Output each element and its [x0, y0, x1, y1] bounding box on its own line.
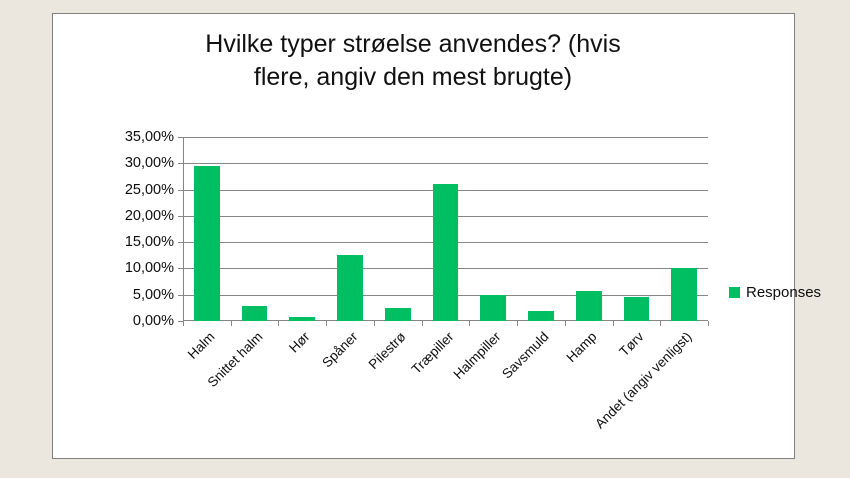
- bar-slot: [660, 137, 708, 321]
- bar-snittet-halm: [242, 306, 268, 321]
- bar-sp-ner: [337, 255, 363, 321]
- y-axis-tick-label: 20,00%: [125, 208, 174, 224]
- y-axis-tick-label: 30,00%: [125, 155, 174, 171]
- y-axis-tick-label: 0,00%: [133, 313, 174, 329]
- bar-pilestr: [385, 308, 411, 321]
- bar-savsmuld: [528, 311, 554, 321]
- legend-swatch-responses-icon: [729, 287, 740, 298]
- bar-halmpiller: [480, 295, 506, 321]
- y-axis-tick-label: 25,00%: [125, 182, 174, 198]
- x-axis-label-andet-angiv-venligst: Andet (angiv venligst): [592, 329, 694, 431]
- y-axis-tick-label: 10,00%: [125, 260, 174, 276]
- bar-slot: [374, 137, 422, 321]
- chart-title-line-2: flere, angiv den mest brugte): [113, 61, 713, 94]
- bar-series-responses: [183, 137, 708, 321]
- plot-area: 0,00%5,00%10,00%15,00%20,00%25,00%30,00%…: [183, 137, 708, 321]
- x-axis-category-labels: HalmSnittet halmHørSpånerPilestrøTræpill…: [183, 325, 708, 455]
- x-axis-label-savsmuld: Savsmuld: [499, 329, 552, 382]
- x-axis-label-hamp: Hamp: [564, 329, 600, 365]
- chart-legend: Responses: [729, 284, 821, 301]
- chart-title: Hvilke typer strøelse anvendes? (hvis fl…: [113, 28, 713, 94]
- bar-slot: [565, 137, 613, 321]
- bar-andet-angiv-venligst: [671, 268, 697, 321]
- bar-slot: [469, 137, 517, 321]
- bar-slot: [231, 137, 279, 321]
- bar-tr-piller: [433, 184, 459, 321]
- bar-slot: [517, 137, 565, 321]
- x-axis-label-h-r: Hør: [286, 329, 313, 356]
- y-axis-tick-label: 5,00%: [133, 287, 174, 303]
- chart-panel: Hvilke typer strøelse anvendes? (hvis fl…: [52, 13, 795, 459]
- chart-screenshot: Hvilke typer strøelse anvendes? (hvis fl…: [0, 0, 850, 478]
- y-axis-tick-label: 15,00%: [125, 234, 174, 250]
- x-axis-label-halmpiller: Halmpiller: [451, 329, 504, 382]
- bar-t-rv: [624, 297, 650, 321]
- bar-slot: [613, 137, 661, 321]
- x-axis-label-halm: Halm: [185, 329, 218, 362]
- chart-title-line-1: Hvilke typer strøelse anvendes? (hvis: [113, 28, 713, 61]
- x-axis-tick: [708, 321, 709, 326]
- x-axis-label-sp-ner: Spåner: [319, 329, 360, 370]
- bar-slot: [422, 137, 470, 321]
- y-axis-tick-label: 35,00%: [125, 129, 174, 145]
- bar-halm: [194, 166, 220, 321]
- x-axis-label-tr-piller: Træpiller: [409, 329, 457, 377]
- x-axis-label-pilestr: Pilestrø: [366, 329, 409, 372]
- bar-h-r: [289, 317, 315, 321]
- bar-slot: [326, 137, 374, 321]
- bar-slot: [278, 137, 326, 321]
- bar-hamp: [576, 291, 602, 321]
- bar-slot: [183, 137, 231, 321]
- legend-label-responses: Responses: [746, 284, 821, 301]
- x-axis-label-t-rv: Tørv: [616, 329, 646, 359]
